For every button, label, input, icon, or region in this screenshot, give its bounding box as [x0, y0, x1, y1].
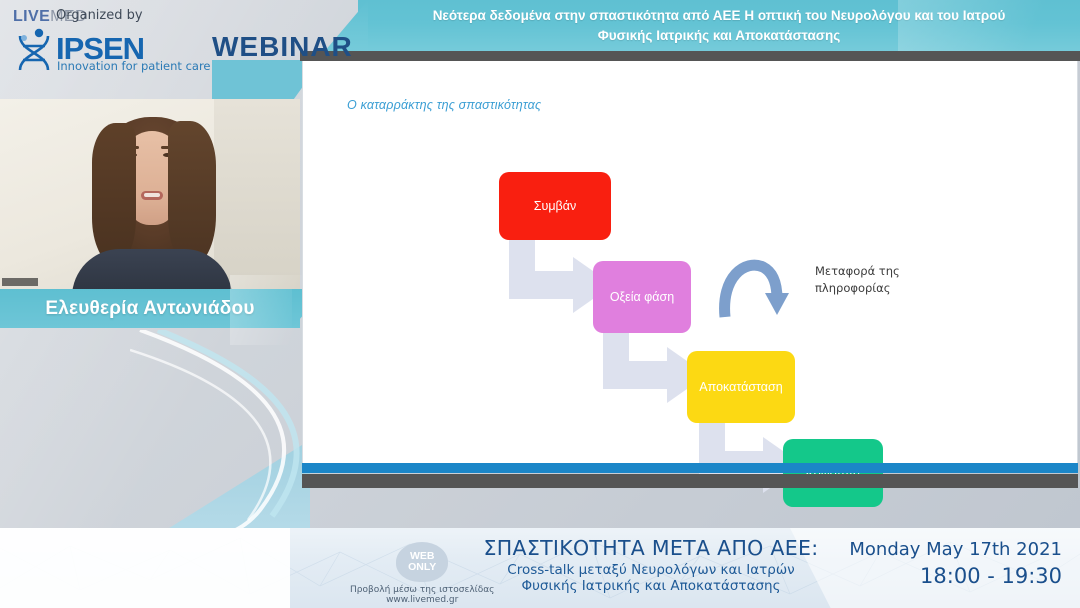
session-title-line1: Νεότερα δεδομένα στην σπαστικότητα από Α…: [433, 6, 1006, 26]
session-title-line2: Φυσικής Ιατρικής και Αποκατάστασης: [433, 26, 1006, 46]
presenter-hair-left: [92, 123, 136, 265]
flow-box-acute-phase: Οξεία φάση: [593, 261, 691, 333]
webinar-player: LIVEMED Νεότερα δεδομένα στην σπαστικότη…: [0, 0, 1080, 608]
slide-top-bar: [300, 51, 1080, 61]
presenter-name: Ελευθερία Αντωνιάδου: [45, 298, 254, 320]
video-wall: [214, 99, 300, 289]
presenter-name-bar: Ελευθερία Αντωνιάδου: [0, 289, 300, 328]
session-title: Νεότερα δεδομένα στην σπαστικότητα από Α…: [433, 6, 1006, 45]
web-only-line2: ONLY: [408, 562, 436, 573]
slide-note: Μεταφορά της πληροφορίας: [815, 263, 935, 296]
logo-live-text: LIVE: [13, 8, 50, 25]
presenter-video[interactable]: [0, 99, 300, 289]
flow-box-rehabilitation-label: Αποκατάσταση: [699, 380, 782, 394]
video-timestamp-overlay: [2, 278, 38, 286]
slide-bottom-bar: [302, 474, 1078, 488]
presenter-hair-right: [168, 121, 216, 267]
ipsen-helix-icon: [12, 26, 56, 72]
presenter-mouth: [141, 191, 163, 200]
web-only-badge: WEB ONLY: [396, 542, 448, 582]
flow-box-event-label: Συμβάν: [534, 199, 576, 213]
slide-accent-bar: [302, 463, 1078, 473]
event-title-block: ΣΠΑΣΤΙΚΟΤΗΤΑ ΜΕΤΑ ΑΠΟ ΑΕΕ: Cross-talk με…: [472, 536, 830, 594]
slide-canvas: Ο καταρράκτης της σπαστικότητας Συμβάν Ο…: [302, 61, 1078, 463]
web-only-url[interactable]: www.livemed.gr: [350, 595, 494, 605]
slide-title: Ο καταρράκτης της σπαστικότητας: [347, 98, 541, 112]
slide-viewer[interactable]: Ο καταρράκτης της σπαστικότητας Συμβάν Ο…: [300, 51, 1080, 489]
organized-by-label: Organized by: [56, 8, 143, 23]
event-subtitle-2: Φυσικής Ιατρικής και Αποκατάστασης: [472, 578, 830, 594]
information-transfer-arrow-icon: [719, 257, 795, 319]
flow-box-acute-phase-label: Οξεία φάση: [610, 290, 674, 304]
event-schedule-block: Monday May 17th 2021 18:00 - 19:30: [849, 539, 1062, 588]
webinar-label: WEBINAR: [212, 31, 353, 63]
event-time: 18:00 - 19:30: [849, 564, 1062, 588]
flow-box-community: Κοινότητα: [783, 439, 883, 507]
event-date: Monday May 17th 2021: [849, 539, 1062, 560]
event-subtitle-1: Cross-talk μεταξύ Νευρολόγων και Ιατρών: [472, 562, 830, 578]
sponsor-tagline: Innovation for patient care: [57, 59, 211, 73]
flow-box-rehabilitation: Αποκατάσταση: [687, 351, 795, 423]
event-title: ΣΠΑΣΤΙΚΟΤΗΤΑ ΜΕΤΑ ΑΠΟ ΑΕΕ:: [472, 536, 830, 560]
flow-box-event: Συμβάν: [499, 172, 611, 240]
presenter-torso: [72, 249, 232, 289]
footer-left-plate: [0, 528, 290, 608]
session-title-banner: Νεότερα δεδομένα στην σπαστικότητα από Α…: [358, 0, 1080, 52]
